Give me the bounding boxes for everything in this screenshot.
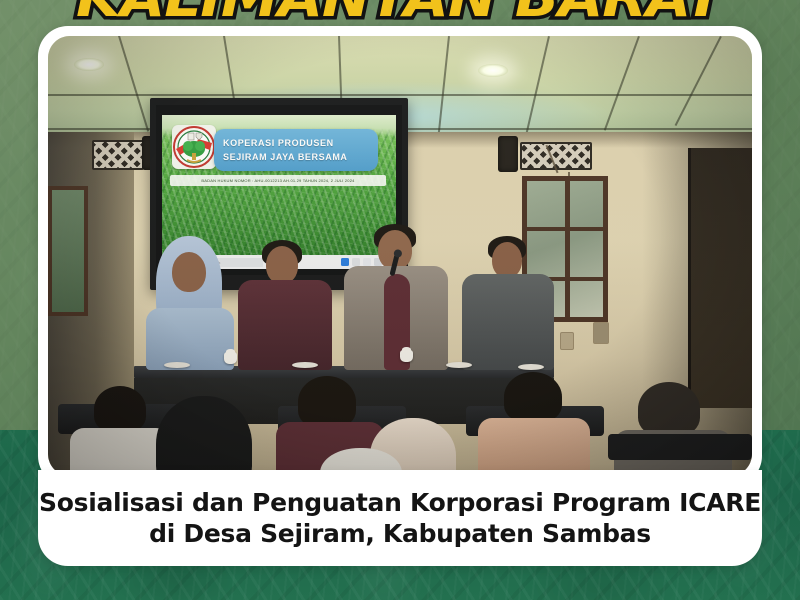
poster-headline: KALIMANTAN BARAT bbox=[76, 0, 723, 29]
headline-container: KALIMANTAN BARAT bbox=[0, 0, 800, 29]
wall-speaker bbox=[498, 136, 518, 172]
face bbox=[492, 242, 522, 278]
drinking-cup bbox=[400, 350, 413, 362]
downlight-icon bbox=[74, 58, 104, 71]
room-door bbox=[688, 148, 752, 408]
audience-head bbox=[504, 372, 562, 422]
audience-head bbox=[638, 382, 700, 436]
torso bbox=[238, 280, 332, 370]
caption-card: Sosialisasi dan Penguatan Korporasi Prog… bbox=[38, 470, 762, 566]
saucer bbox=[164, 362, 190, 368]
ventilation-block bbox=[92, 140, 144, 170]
cortana-icon[interactable] bbox=[341, 258, 349, 266]
banner-line-1: KOPERASI PRODUSEN bbox=[223, 136, 378, 150]
wall-outlet bbox=[560, 332, 574, 350]
saucer bbox=[446, 362, 472, 368]
audience-torso bbox=[70, 428, 170, 476]
ceiling-grid-line bbox=[675, 36, 722, 126]
ceiling-grid-line bbox=[118, 36, 149, 132]
saucer bbox=[292, 362, 318, 368]
audience-torso bbox=[478, 418, 590, 476]
face bbox=[172, 252, 206, 292]
presentation-slide: KOPERASI PRODUSEN SEJIRAM JAYA BERSAMA B… bbox=[162, 115, 396, 255]
chair-back bbox=[608, 434, 752, 460]
meeting-photo: KOPERASI PRODUSEN SEJIRAM JAYA BERSAMA B… bbox=[48, 36, 752, 476]
ceiling-grid-line bbox=[48, 94, 752, 96]
room-window bbox=[48, 186, 88, 316]
banner-line-2: SEJIRAM JAYA BERSAMA bbox=[223, 150, 378, 164]
slide-legal-text: BADAN HUKUM NOMOR : AHU-0012213 AH.01.29… bbox=[201, 178, 354, 183]
face bbox=[266, 246, 298, 284]
cooperative-logo-icon bbox=[172, 125, 216, 169]
saucer bbox=[518, 364, 544, 370]
window-mullion bbox=[527, 227, 603, 231]
caption-line-1: Sosialisasi dan Penguatan Korporasi Prog… bbox=[39, 487, 761, 518]
torso bbox=[462, 274, 554, 370]
window-glass bbox=[52, 190, 84, 312]
task-view-icon[interactable] bbox=[352, 258, 360, 266]
audience-head bbox=[298, 376, 356, 428]
caption-line-2: di Desa Sejiram, Kabupaten Sambas bbox=[149, 518, 651, 549]
folder-icon[interactable] bbox=[363, 258, 371, 266]
window-mullion bbox=[565, 181, 570, 317]
drinking-cup bbox=[224, 352, 237, 364]
poster-root: KALIMANTAN BARAT bbox=[0, 0, 800, 600]
slide-legal-strip: BADAN HUKUM NOMOR : AHU-0012213 AH.01.29… bbox=[170, 175, 386, 186]
slide-banner: KOPERASI PRODUSEN SEJIRAM JAYA BERSAMA bbox=[214, 129, 378, 171]
audience-head bbox=[94, 386, 146, 432]
torso bbox=[146, 308, 234, 370]
downlight-icon bbox=[478, 64, 508, 77]
photo-card: KOPERASI PRODUSEN SEJIRAM JAYA BERSAMA B… bbox=[38, 26, 762, 486]
wall-switch bbox=[593, 322, 609, 344]
